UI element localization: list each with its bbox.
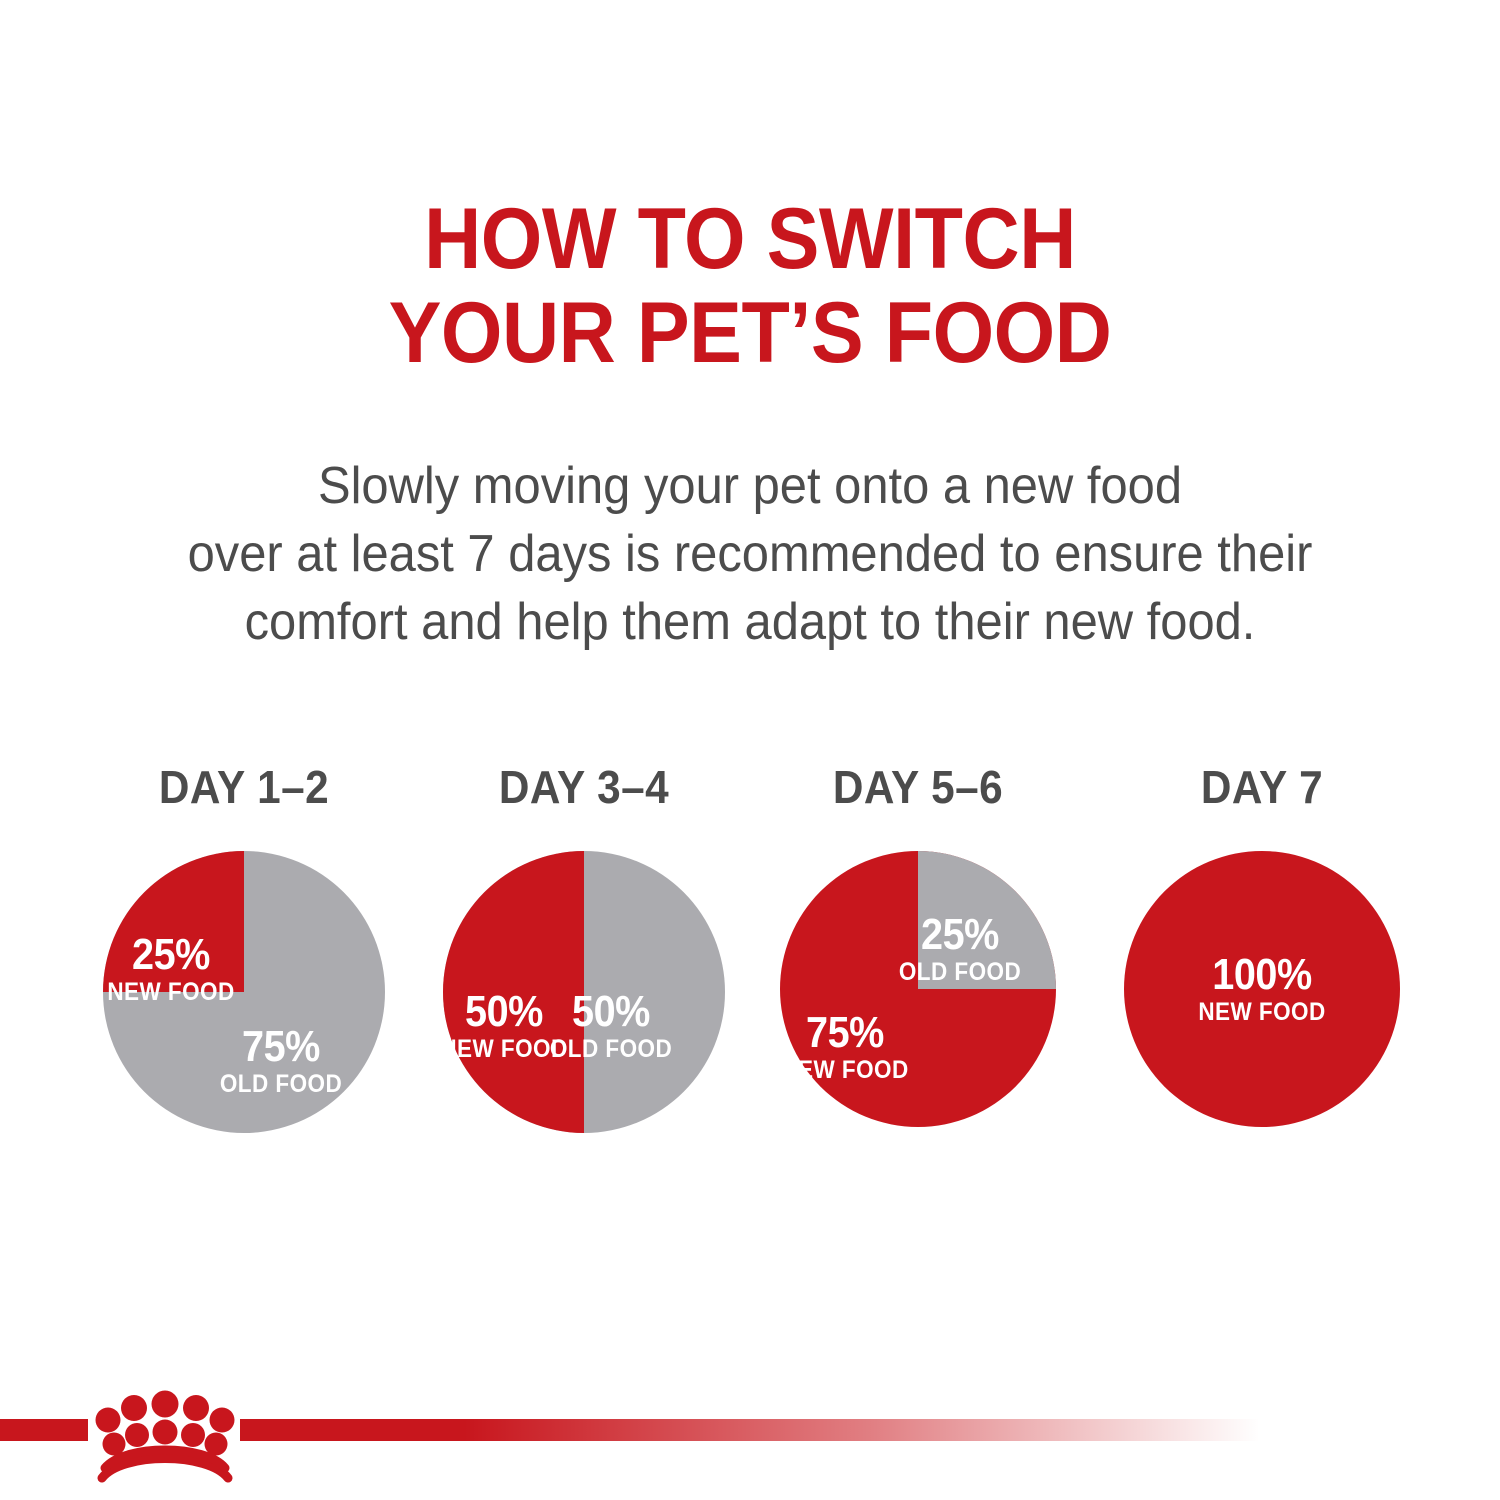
intro-line-3: comfort and help them adapt to their new… [45, 588, 1455, 656]
transition-chart-row: DAY 1–2 25% NEW FOOD 75% OLD FOOD DAY 3–… [0, 762, 1500, 1182]
pie-chart-day-5-6 [779, 850, 1057, 1128]
day-label-3: DAY 5–6 [762, 762, 1075, 812]
footer-rule-right [240, 1419, 1260, 1441]
pie-slice-new-food [103, 851, 244, 992]
pie-slice-new-food [1124, 851, 1400, 1127]
chart-day-1-2: DAY 1–2 25% NEW FOOD 75% OLD FOOD [74, 762, 414, 1182]
pie-wrap-4: 100% NEW FOOD [1092, 850, 1432, 1150]
page-title-line-2: YOUR PET’S FOOD [60, 286, 1440, 380]
day-label-1: DAY 1–2 [88, 762, 401, 812]
pie-wrap-3: 25% OLD FOOD 75% NEW FOOD [748, 850, 1088, 1150]
pie-slice-old-food [918, 851, 1056, 989]
pie-chart-day-7 [1123, 850, 1401, 1128]
footer-rule-left [0, 1419, 88, 1441]
infographic-page: HOW TO SWITCH YOUR PET’S FOOD Slowly mov… [0, 0, 1500, 1500]
intro-paragraph: Slowly moving your pet onto a new food o… [45, 452, 1455, 656]
intro-line-1: Slowly moving your pet onto a new food [45, 452, 1455, 520]
intro-line-2: over at least 7 days is recommended to e… [45, 520, 1455, 588]
day-label-2: DAY 3–4 [428, 762, 741, 812]
page-title: HOW TO SWITCH YOUR PET’S FOOD [60, 192, 1440, 380]
pie-wrap-1: 25% NEW FOOD 75% OLD FOOD [74, 850, 414, 1150]
pie-slice-new-food [443, 851, 584, 1133]
pie-wrap-2: 50% NEW FOOD 50% OLD FOOD [414, 850, 754, 1150]
pie-chart-day-3-4 [442, 850, 726, 1134]
chart-day-5-6: DAY 5–6 25% OLD FOOD 75% NEW FOOD [748, 762, 1088, 1182]
page-title-line-1: HOW TO SWITCH [60, 192, 1440, 286]
royal-canin-crown-icon [86, 1382, 244, 1490]
footer [0, 1390, 1500, 1500]
day-label-4: DAY 7 [1106, 762, 1419, 812]
chart-day-7: DAY 7 100% NEW FOOD [1092, 762, 1432, 1182]
chart-day-3-4: DAY 3–4 50% NEW FOOD 50% OLD FOOD [414, 762, 754, 1182]
pie-chart-day-1-2 [102, 850, 386, 1134]
